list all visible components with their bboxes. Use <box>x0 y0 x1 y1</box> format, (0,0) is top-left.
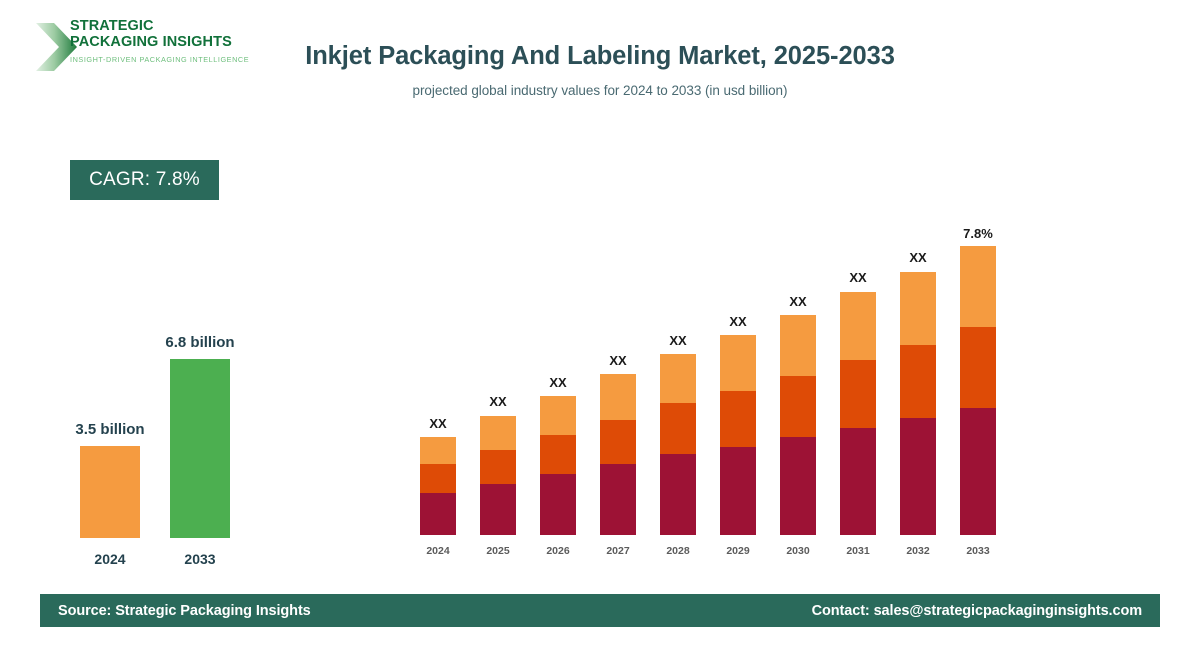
stacked-bar-segment <box>420 493 456 535</box>
stacked-bar-segment <box>480 450 516 484</box>
comparison-bar-chart: 3.5 billion20246.8 billion2033 <box>40 300 290 575</box>
brand-logo-text: STRATEGIC PACKAGING INSIGHTS INSIGHT-DRI… <box>70 18 249 64</box>
stacked-bar-segment <box>960 408 996 535</box>
stacked-bar-value-label: XX <box>758 294 838 309</box>
brand-logo-line1: STRATEGIC <box>70 18 249 34</box>
brand-logo: STRATEGIC PACKAGING INSIGHTS INSIGHT-DRI… <box>34 18 254 76</box>
stacked-bar-value-label: XX <box>698 314 778 329</box>
stacked-bar-segment <box>720 335 756 391</box>
stacked-bar-segment <box>900 418 936 535</box>
stacked-bar <box>720 335 756 535</box>
stacked-bar-segment <box>600 374 636 420</box>
stacked-bar-value-label: XX <box>638 333 718 348</box>
stacked-bar-value-label: XX <box>458 394 538 409</box>
stacked-bar-segment <box>840 292 876 360</box>
footer-source: Source: Strategic Packaging Insights <box>58 603 311 619</box>
comparison-bar-value-label: 3.5 billion <box>40 421 180 438</box>
stacked-bar-segment <box>900 345 936 418</box>
page-subtitle: projected global industry values for 202… <box>300 83 900 98</box>
comparison-bar-year-label: 2033 <box>130 551 270 567</box>
stacked-bar-segment <box>480 416 516 450</box>
stacked-bar-year-label: 2033 <box>938 545 1018 557</box>
stacked-bar <box>480 416 516 535</box>
footer-contact: Contact: sales@strategicpackaginginsight… <box>812 603 1142 619</box>
stacked-bar-value-label: XX <box>398 416 478 431</box>
stacked-bar-value-label: XX <box>518 375 598 390</box>
stacked-bar <box>660 354 696 535</box>
stacked-bar <box>600 374 636 535</box>
stacked-bar <box>960 246 996 535</box>
stacked-bar-segment <box>900 272 936 345</box>
comparison-bar-value-label: 6.8 billion <box>130 334 270 351</box>
stacked-bar-segment <box>540 396 576 435</box>
page-title: Inkjet Packaging And Labeling Market, 20… <box>300 40 900 73</box>
stacked-bar <box>840 292 876 535</box>
stacked-bar-segment <box>660 403 696 454</box>
stacked-bar <box>420 437 456 535</box>
stacked-bar-value-label: XX <box>818 270 898 285</box>
stacked-bar <box>780 315 816 535</box>
stacked-bar-value-label: XX <box>878 250 958 265</box>
comparison-bar <box>80 446 140 538</box>
brand-tagline: INSIGHT-DRIVEN PACKAGING INTELLIGENCE <box>70 55 249 64</box>
stacked-bar-segment <box>480 484 516 535</box>
stacked-bar-segment <box>780 437 816 535</box>
stacked-bar-segment <box>540 474 576 535</box>
stacked-bar-segment <box>720 447 756 535</box>
stacked-bar-chart: XX2024XX2025XX2026XX2027XX2028XX2029XX20… <box>400 200 1020 560</box>
brand-logo-line2: PACKAGING INSIGHTS <box>70 34 249 50</box>
cagr-badge: CAGR: 7.8% <box>70 160 219 200</box>
stacked-bar-segment <box>600 464 636 535</box>
stacked-bar-segment <box>840 360 876 428</box>
stacked-bar <box>900 272 936 535</box>
stacked-bar-segment <box>420 464 456 493</box>
stacked-bar-segment <box>600 420 636 464</box>
stacked-bar-segment <box>660 454 696 535</box>
stacked-bar-segment <box>960 327 996 408</box>
stacked-bar-segment <box>780 315 816 376</box>
header: Inkjet Packaging And Labeling Market, 20… <box>300 40 900 98</box>
stacked-bar-segment <box>660 354 696 403</box>
comparison-bar <box>170 359 230 538</box>
stacked-bar <box>540 396 576 535</box>
stacked-bar-value-label: 7.8% <box>938 226 1018 241</box>
stacked-bar-segment <box>840 428 876 535</box>
stacked-bar-segment <box>420 437 456 464</box>
stacked-bar-segment <box>540 435 576 474</box>
stacked-bar-segment <box>960 246 996 327</box>
stacked-bar-segment <box>720 391 756 447</box>
stacked-bar-value-label: XX <box>578 353 658 368</box>
footer-bar: Source: Strategic Packaging Insights Con… <box>40 594 1160 627</box>
stacked-bar-segment <box>780 376 816 437</box>
